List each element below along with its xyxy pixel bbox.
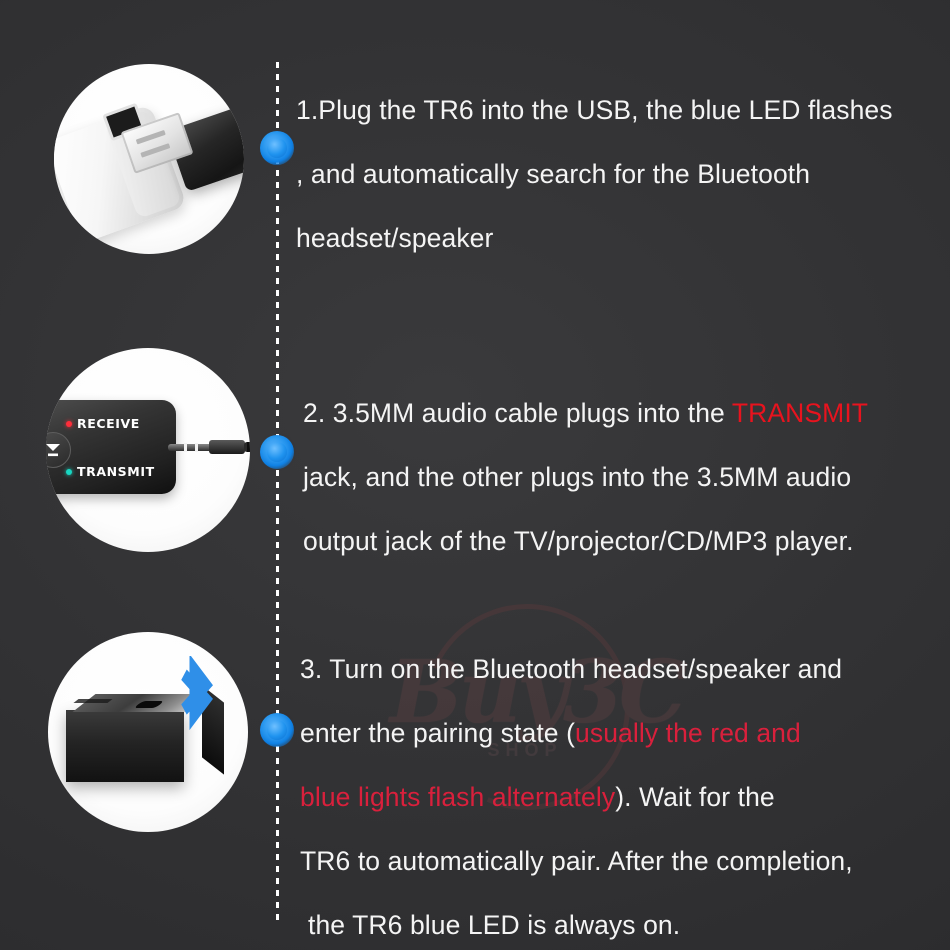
text-fragment: usually the red and (575, 718, 801, 748)
audio-jack-3-5mm (168, 440, 250, 454)
step-1-line-1: 1.Plug the TR6 into the USB, the blue LE… (296, 78, 893, 142)
receive-mode-row: RECEIVE (66, 416, 140, 431)
step-2-line-3: output jack of the TV/projector/CD/MP3 p… (303, 509, 868, 573)
step-3-line-4: TR6 to automatically pair. After the com… (300, 829, 853, 893)
step-3-line-1: 3. Turn on the Bluetooth headset/speaker… (300, 637, 853, 701)
timeline-node-1 (260, 131, 294, 165)
jack-cable (244, 442, 250, 452)
jack-tip (168, 444, 210, 451)
text-fragment: output jack of the TV/projector/CD/MP3 p… (303, 526, 854, 556)
photo-bluetooth-speaker (48, 632, 248, 832)
text-fragment: blue lights flash alternately (300, 782, 615, 812)
step-1-line-3: headset/speaker (296, 206, 893, 270)
step-1-text: 1.Plug the TR6 into the USB, the blue LE… (296, 78, 893, 270)
bluetooth-icon (166, 656, 222, 734)
step-2-line-2: jack, and the other plugs into the 3.5MM… (303, 445, 868, 509)
text-fragment: the TR6 blue LED is always on. (308, 910, 680, 940)
step-3-text: 3. Turn on the Bluetooth headset/speaker… (300, 637, 853, 950)
text-fragment: jack, and the other plugs into the 3.5MM… (303, 462, 851, 492)
step-2-line-1: 2. 3.5MM audio cable plugs into the TRAN… (303, 381, 868, 445)
timeline-dashed-line (276, 62, 279, 920)
transmit-mode-row: TRANSMIT (66, 464, 155, 479)
transmit-led-icon (66, 469, 72, 475)
speaker-grill (73, 699, 112, 703)
text-fragment: ). Wait for the (615, 782, 775, 812)
text-fragment: TRANSMIT (732, 398, 868, 428)
text-fragment: headset/speaker (296, 223, 493, 253)
text-fragment: 1.Plug the TR6 into the USB, the blue LE… (296, 95, 893, 125)
text-fragment: TR6 to automatically pair. After the com… (300, 846, 853, 876)
dongle-button-icon (240, 119, 244, 150)
step-3-line-3: blue lights flash alternately). Wait for… (300, 765, 853, 829)
transmit-label: TRANSMIT (77, 464, 155, 479)
receive-led-icon (66, 421, 72, 427)
photo-usb-charger-dongle (54, 64, 244, 254)
receiver-device: RECEIVE TRANSMIT (46, 400, 176, 494)
timeline-node-3 (260, 713, 294, 747)
text-fragment: 3. Turn on the Bluetooth headset/speaker… (300, 654, 842, 684)
step-2-text: 2. 3.5MM audio cable plugs into the TRAN… (303, 381, 868, 573)
mode-switch-icon (46, 432, 71, 468)
text-fragment: 2. 3.5MM audio cable plugs into the (303, 398, 732, 428)
text-fragment: , and automatically search for the Bluet… (296, 159, 810, 189)
instruction-graphic: Buy3C SHOP RECEIVE TRANSMIT (0, 0, 950, 950)
step-3-line-2: enter the pairing state (usually the red… (300, 701, 853, 765)
jack-ring-2 (195, 443, 198, 452)
timeline-node-2 (260, 435, 294, 469)
receive-label: RECEIVE (77, 416, 140, 431)
photo-receiver-jack: RECEIVE TRANSMIT (46, 348, 250, 552)
jack-barrel (209, 440, 245, 454)
text-fragment: enter the pairing state ( (300, 718, 575, 748)
step-1-line-2: , and automatically search for the Bluet… (296, 142, 893, 206)
step-3-line-5: the TR6 blue LED is always on. (300, 893, 853, 950)
jack-ring-1 (184, 443, 187, 452)
